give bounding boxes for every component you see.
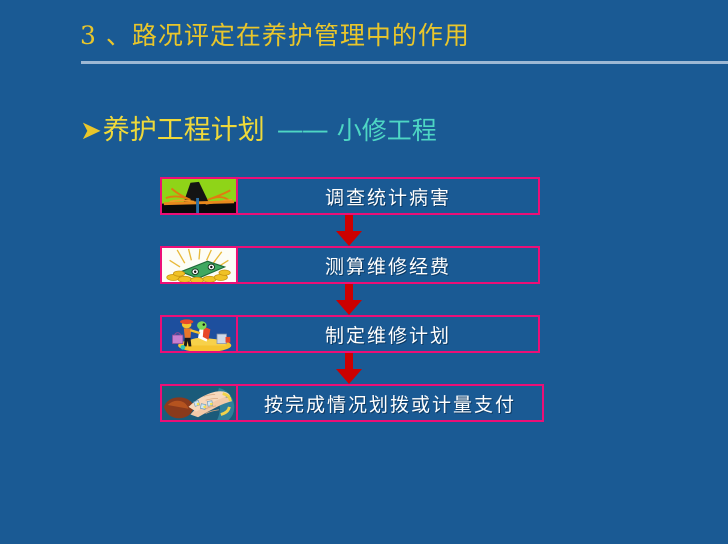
flow-step-3-box: 制定维修计划: [238, 315, 540, 353]
triangle-bullet-icon: ➤: [80, 118, 102, 144]
flow-step-1-label: 调查统计病害: [325, 183, 451, 210]
flow-step-1-box: 调查统计病害: [238, 177, 540, 215]
flow-step-3-label: 制定维修计划: [325, 321, 451, 348]
flow-arrow-2-container: [160, 284, 540, 315]
flow-arrow-3-container: [160, 353, 540, 384]
subtitle: ➤ 养护工程计划 —— 小修工程: [80, 108, 437, 147]
flow-step-1: 调查统计病害: [160, 177, 540, 215]
down-arrow-icon: [334, 215, 364, 246]
down-arrow-icon: [334, 284, 364, 315]
money-cash-icon: [160, 246, 238, 284]
subtitle-main-text: 养护工程计划: [103, 108, 265, 147]
process-flowchart: 调查统计病害: [160, 177, 540, 422]
flow-step-2: 测算维修经费: [160, 246, 540, 284]
road-crack-damage-icon: [160, 177, 238, 215]
flow-step-4: 按完成情况划拨或计量支付: [160, 384, 540, 422]
subtitle-sub-text: 小修工程: [337, 111, 437, 147]
title-divider: [81, 61, 728, 64]
flow-arrow-1-container: [160, 215, 540, 246]
hands-payment-icon: [160, 384, 238, 422]
flow-step-2-label: 测算维修经费: [325, 252, 451, 279]
flow-step-4-label: 按完成情况划拨或计量支付: [264, 390, 516, 417]
down-arrow-icon: [334, 353, 364, 384]
subtitle-dash: ——: [277, 115, 327, 146]
flow-step-3: 制定维修计划: [160, 315, 540, 353]
flow-step-2-box: 测算维修经费: [238, 246, 540, 284]
page-title: 3 、路况评定在养护管理中的作用: [80, 16, 470, 52]
road-worker-plan-icon: [160, 315, 238, 353]
flow-step-4-box: 按完成情况划拨或计量支付: [238, 384, 544, 422]
